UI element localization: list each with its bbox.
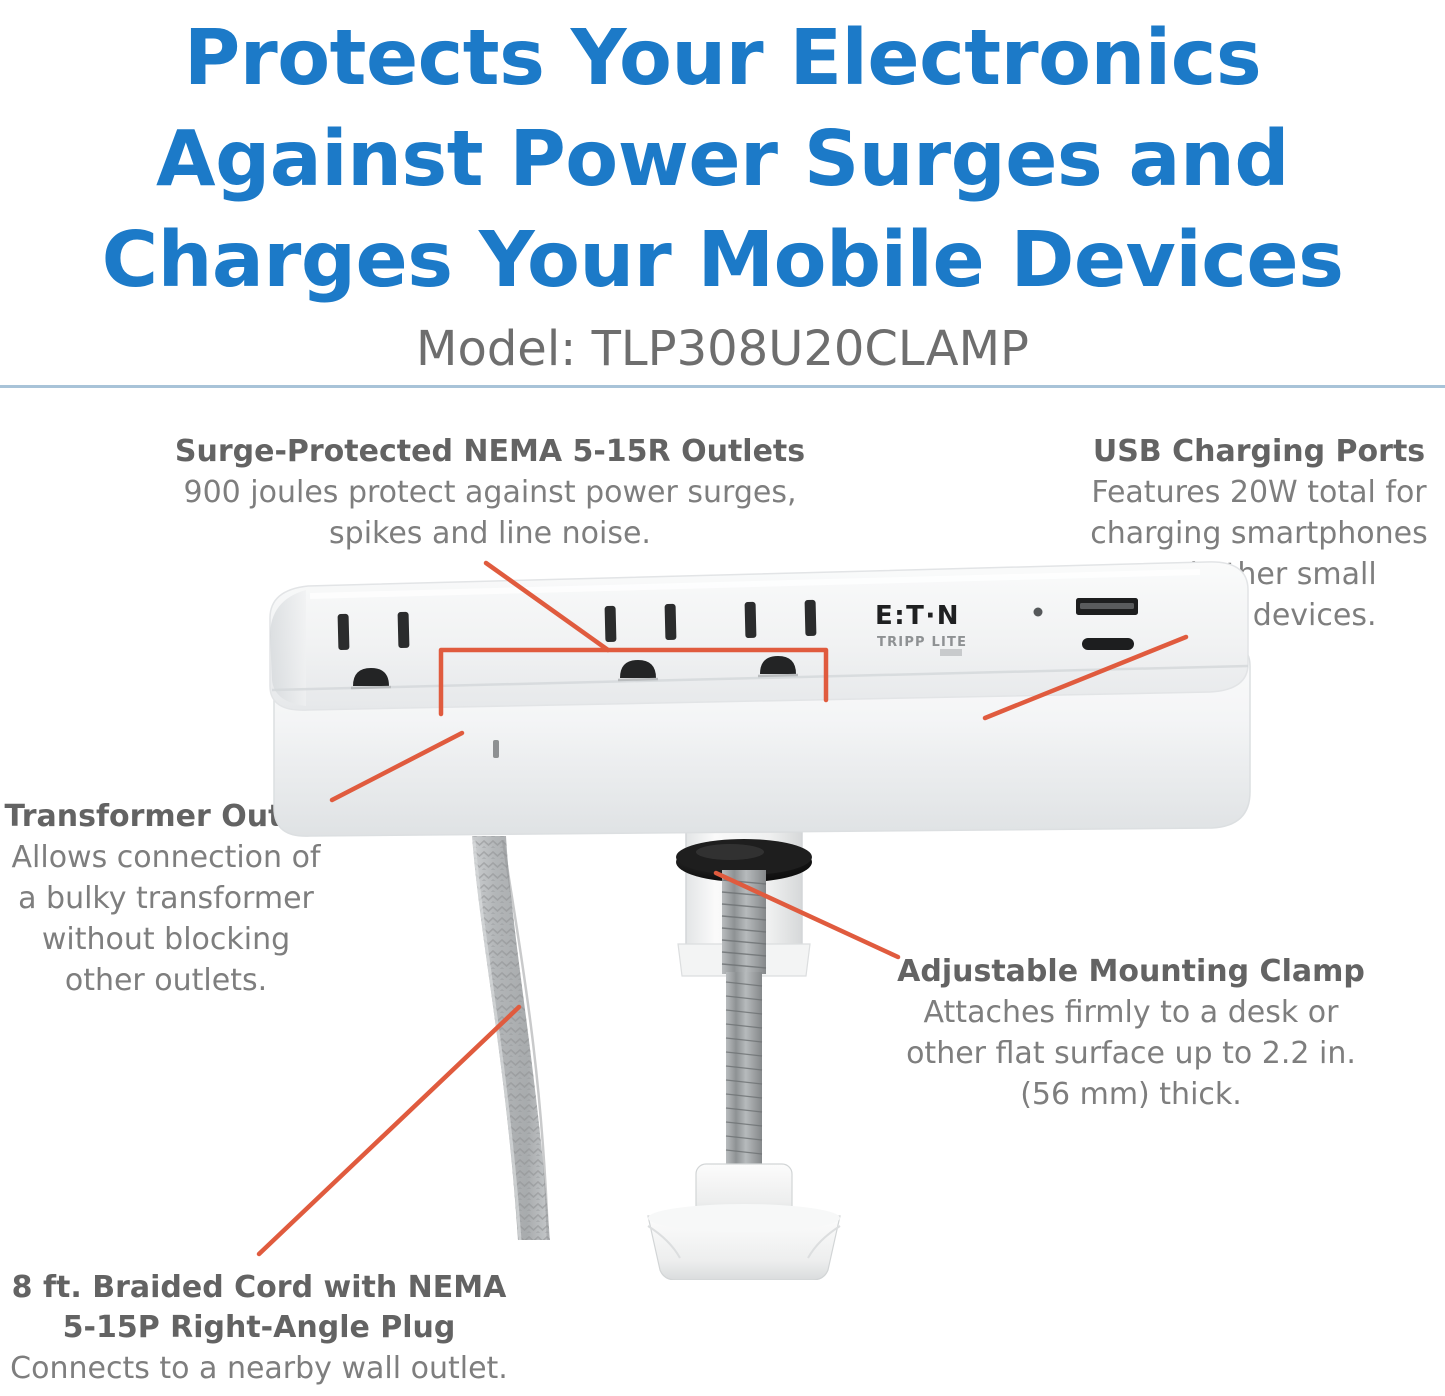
power-strip-body: E:T·N TRIPP LITE (270, 562, 1250, 836)
headline-line-2: Against Power Surges and (0, 109, 1445, 210)
mounting-clamp (648, 832, 840, 1280)
callout-cord-title: 8 ft. Braided Cord with NEMA 5-15P Right… (0, 1268, 524, 1348)
brand-tripp-lite-text: TRIPP LITE (877, 635, 967, 650)
callout-usb-body-line-1: Features 20W total for (1075, 472, 1443, 513)
brand-eaton-text: E:T·N (875, 601, 960, 631)
clamp-screw-lower (726, 972, 762, 1172)
page-title: Protects Your Electronics Against Power … (0, 0, 1445, 311)
model-number: Model: TLP308U20CLAMP (0, 311, 1445, 377)
headline-line-3: Charges Your Mobile Devices (0, 210, 1445, 311)
clamp-knob (648, 1164, 840, 1280)
braided-cord (472, 836, 550, 1240)
product-infographic: Protects Your Electronics Against Power … (0, 0, 1445, 1396)
usb-led-indicator (1034, 608, 1043, 617)
callout-braided-cord: 8 ft. Braided Cord with NEMA 5-15P Right… (0, 1268, 524, 1389)
header: Protects Your Electronics Against Power … (0, 0, 1445, 377)
header-divider (0, 385, 1445, 388)
brand-logo: E:T·N TRIPP LITE (875, 601, 967, 656)
product-image: E:T·N TRIPP LITE (250, 540, 1270, 1280)
callout-outlets-title: Surge-Protected NEMA 5-15R Outlets (150, 432, 830, 472)
callout-outlets-body-line-1: 900 joules protect against power surges, (150, 472, 830, 513)
callout-cord-body-line-1: Connects to a nearby wall outlet. (0, 1348, 524, 1389)
callout-cord-title-line-2: 5-15P Right-Angle Plug (0, 1308, 524, 1348)
clamp-screw-upper (722, 870, 766, 974)
callout-usb-title: USB Charging Ports (1075, 432, 1443, 472)
usb-port-c (1082, 638, 1134, 650)
callout-cord-body: Connects to a nearby wall outlet. (0, 1348, 524, 1389)
callout-outlets: Surge-Protected NEMA 5-15R Outlets 900 j… (150, 432, 830, 554)
headline-line-1: Protects Your Electronics (0, 8, 1445, 109)
status-led (493, 740, 499, 758)
